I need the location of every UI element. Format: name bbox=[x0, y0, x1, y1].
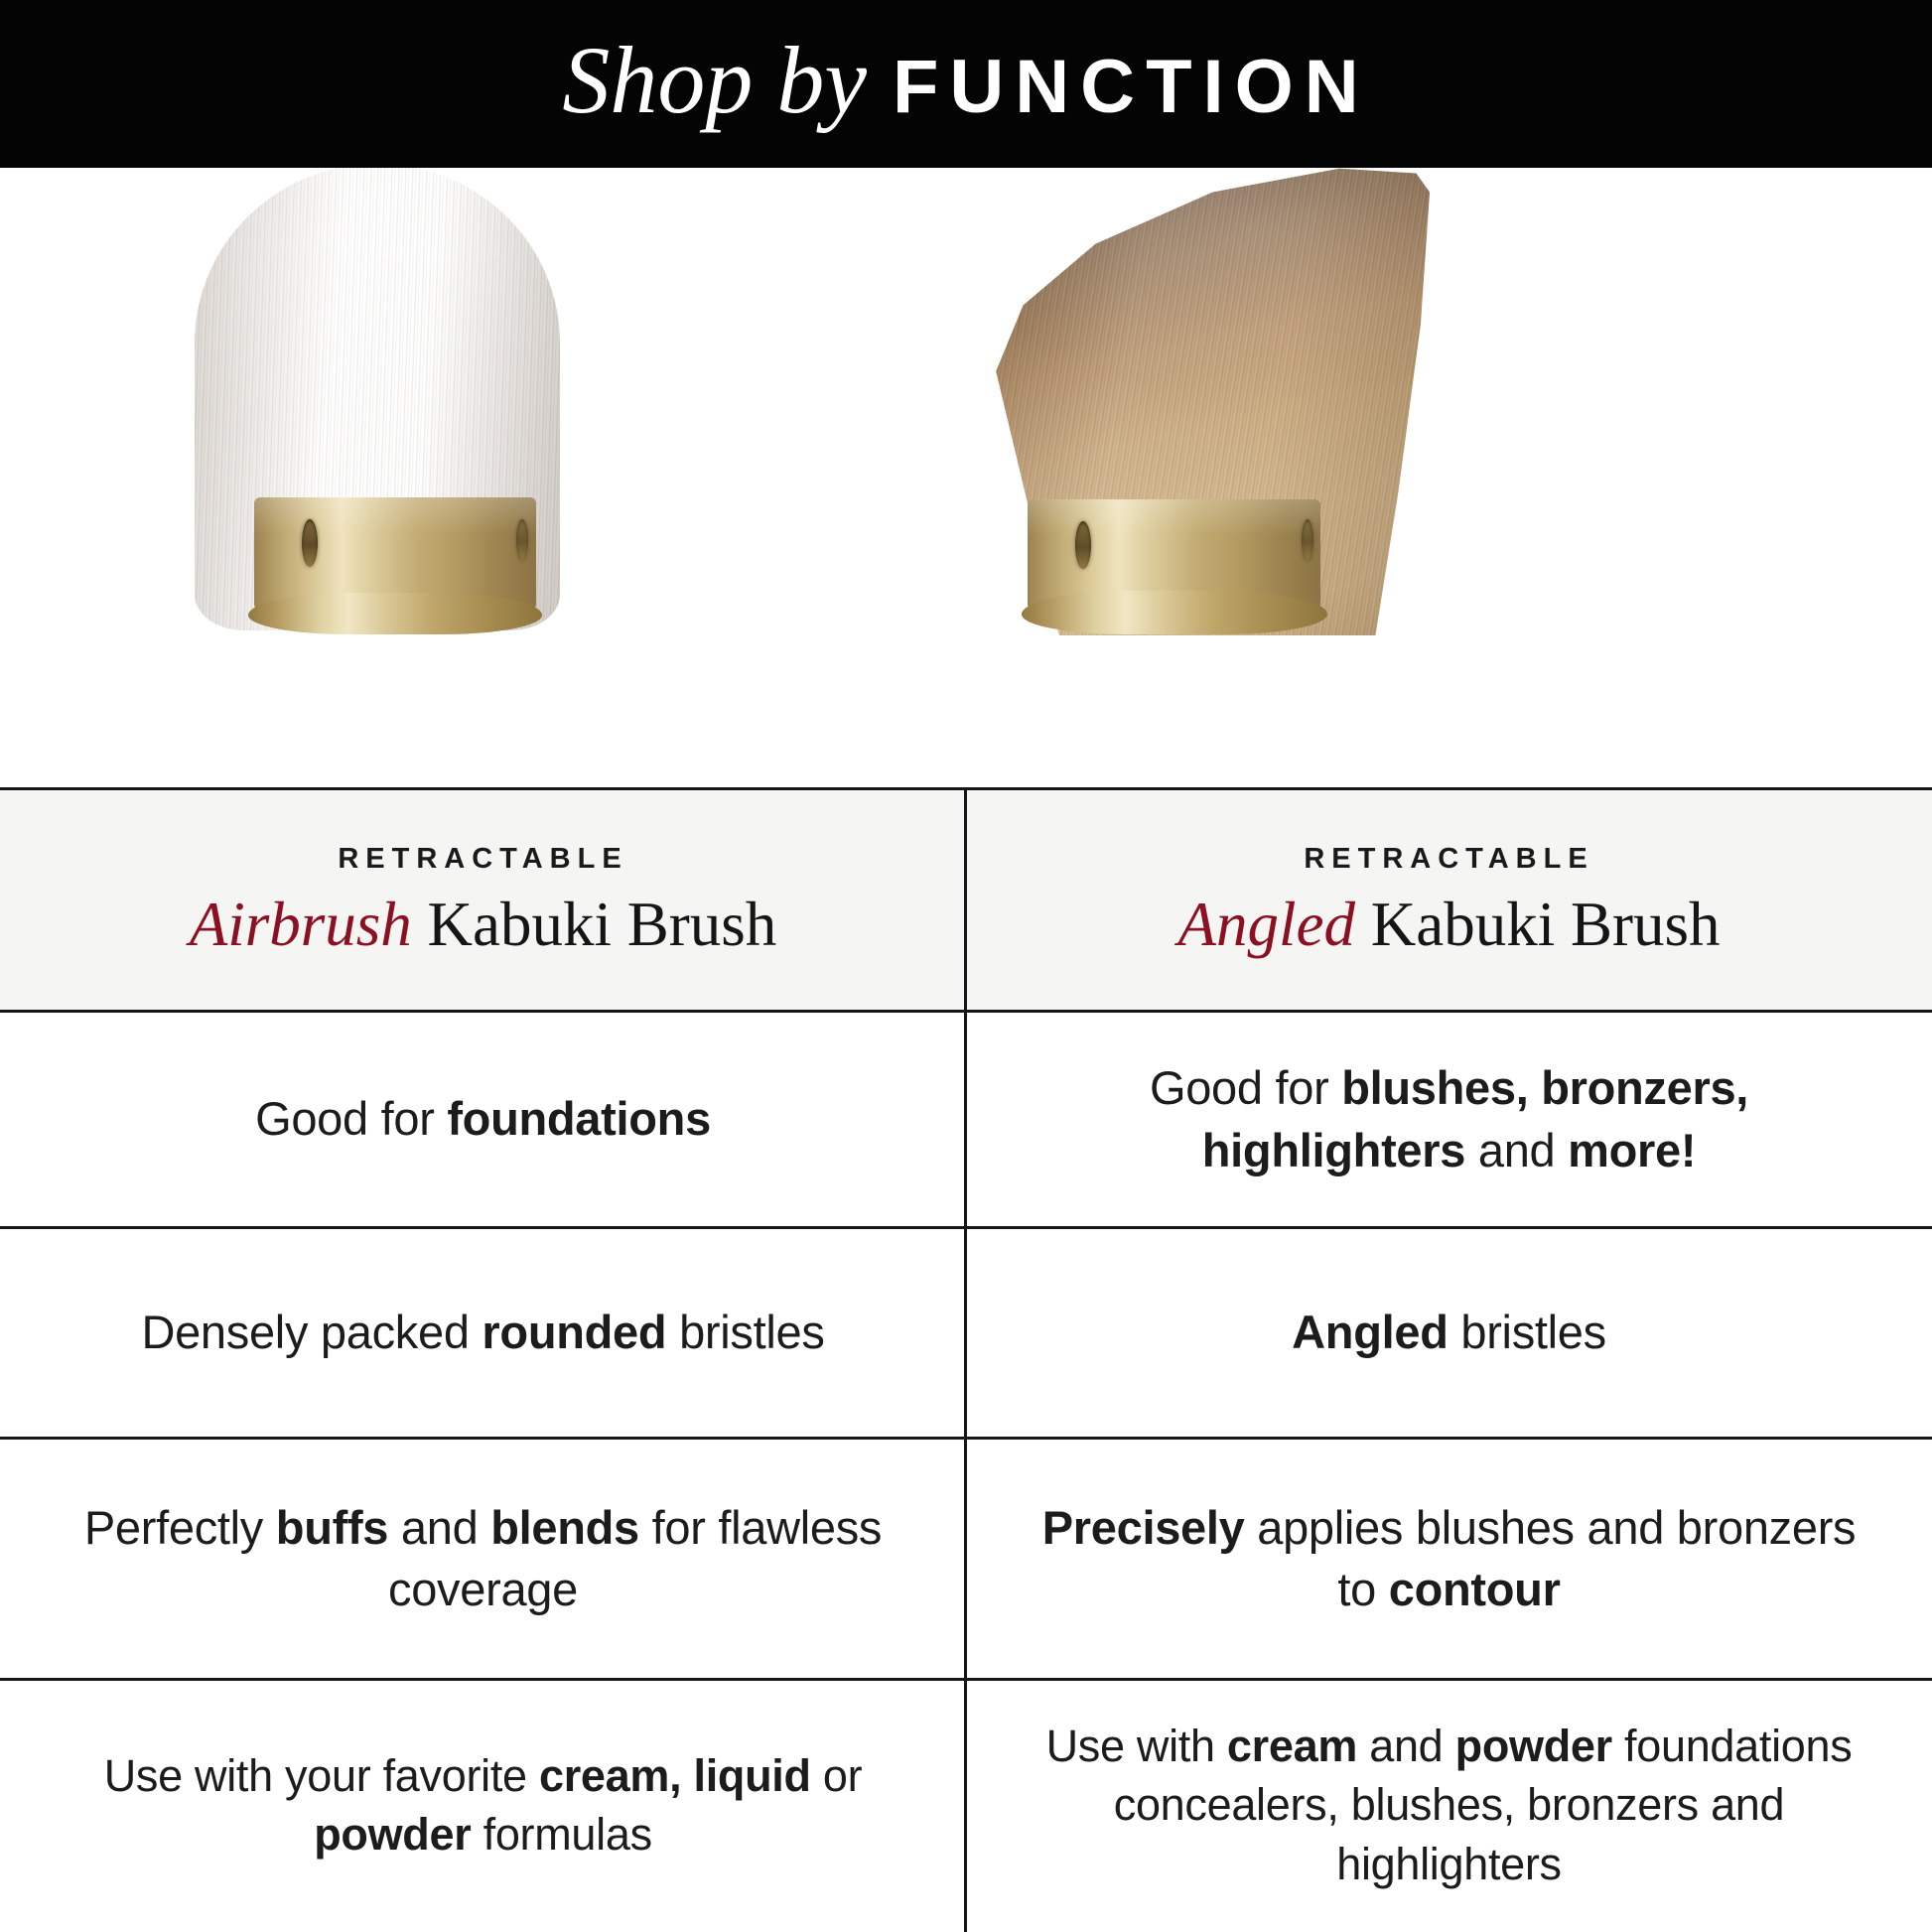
product-name: Airbrush Kabuki Brush bbox=[190, 892, 777, 957]
feature-text: Perfectly buffs and blends for flawless … bbox=[56, 1497, 910, 1620]
feature-cell-right: Precisely applies blushes and bronzers t… bbox=[966, 1440, 1932, 1678]
ferrule-notch-right bbox=[516, 519, 528, 561]
feature-text: Good for blushes, bronzers, highlighters… bbox=[1022, 1057, 1876, 1180]
product-image-strip bbox=[0, 168, 1932, 787]
product-title-cell-left[interactable]: RETRACTABLE Airbrush Kabuki Brush bbox=[0, 790, 966, 1010]
feature-cell-left: Good for foundations bbox=[0, 1013, 966, 1226]
feature-text-plain: Good for bbox=[1150, 1061, 1341, 1114]
product-name-rest: Kabuki Brush bbox=[428, 890, 777, 959]
product-name-accent: Angled bbox=[1178, 890, 1355, 959]
gold-ferrule-base-rounded bbox=[248, 593, 542, 634]
feature-cell-right: Use with cream and powder foundations co… bbox=[966, 1681, 1932, 1929]
product-name-accent: Airbrush bbox=[190, 890, 412, 959]
feature-text: Precisely applies blushes and bronzers t… bbox=[1022, 1497, 1876, 1620]
product-name: Angled Kabuki Brush bbox=[1178, 892, 1721, 957]
feature-text: Densely packed rounded bristles bbox=[141, 1302, 824, 1363]
feature-text-emphasis: rounded bbox=[482, 1306, 666, 1358]
feature-text-plain bbox=[681, 1750, 693, 1801]
feature-text-plain: Use with your favorite bbox=[104, 1750, 539, 1801]
feature-text: Angled bristles bbox=[1292, 1302, 1606, 1363]
feature-text: Good for foundations bbox=[255, 1088, 711, 1150]
column-divider bbox=[964, 790, 967, 1932]
product-title-cell-right[interactable]: RETRACTABLE Angled Kabuki Brush bbox=[966, 790, 1932, 1010]
product-image-rounded-kabuki[interactable] bbox=[0, 168, 966, 787]
ferrule-notch-left bbox=[302, 519, 318, 567]
gold-ferrule-base-angled bbox=[1022, 591, 1327, 634]
feature-text-plain: and bbox=[388, 1501, 490, 1554]
feature-text-plain: and bbox=[1465, 1124, 1568, 1176]
feature-text-plain: and bbox=[1357, 1721, 1455, 1771]
feature-text-emphasis: powder bbox=[314, 1809, 471, 1860]
feature-cell-left: Densely packed rounded bristles bbox=[0, 1229, 966, 1437]
feature-text-emphasis: liquid bbox=[694, 1750, 811, 1801]
page-title-caps: FUNCTION bbox=[893, 50, 1370, 125]
feature-text-emphasis: blends bbox=[490, 1501, 639, 1554]
feature-text-emphasis: foundations bbox=[447, 1092, 711, 1145]
feature-cell-left: Perfectly buffs and blends for flawless … bbox=[0, 1440, 966, 1678]
feature-text-plain: Perfectly bbox=[84, 1501, 276, 1554]
ferrule-notch-left bbox=[1075, 521, 1091, 569]
feature-cell-left: Use with your favorite cream, liquid or … bbox=[0, 1681, 966, 1929]
feature-text-emphasis: cream bbox=[1227, 1721, 1357, 1771]
header-banner: Shop by FUNCTION bbox=[0, 0, 1932, 168]
product-name-rest: Kabuki Brush bbox=[1371, 890, 1721, 959]
feature-text-emphasis: Precisely bbox=[1042, 1501, 1245, 1554]
feature-text: Use with your favorite cream, liquid or … bbox=[56, 1746, 910, 1864]
feature-text-plain: Use with bbox=[1046, 1721, 1227, 1771]
feature-text-emphasis: contour bbox=[1389, 1563, 1561, 1615]
feature-text-emphasis: Angled bbox=[1292, 1306, 1448, 1358]
product-eyebrow: RETRACTABLE bbox=[338, 843, 627, 876]
shop-by-function-comparison-page: Shop by FUNCTION bbox=[0, 0, 1932, 1932]
ferrule-highlight bbox=[1028, 499, 1320, 536]
feature-text-plain: Good for bbox=[255, 1092, 447, 1145]
feature-text-emphasis: powder bbox=[1455, 1721, 1612, 1771]
feature-text-emphasis: cream, bbox=[539, 1750, 681, 1801]
feature-text-plain: formulas bbox=[471, 1809, 651, 1860]
feature-text-plain: or bbox=[811, 1750, 863, 1801]
feature-text: Use with cream and powder foundations co… bbox=[1022, 1717, 1876, 1893]
product-image-angled-kabuki[interactable] bbox=[966, 168, 1932, 787]
comparison-table: RETRACTABLE Airbrush Kabuki Brush RETRAC… bbox=[0, 787, 1932, 1932]
page-title: Shop by FUNCTION bbox=[562, 33, 1369, 128]
ferrule-notch-right bbox=[1302, 519, 1313, 561]
ferrule-highlight bbox=[254, 497, 536, 535]
feature-text-emphasis: more! bbox=[1568, 1124, 1696, 1176]
feature-text-plain: Densely packed bbox=[141, 1306, 482, 1358]
bristle-tips bbox=[195, 168, 560, 257]
feature-cell-right: Angled bristles bbox=[966, 1229, 1932, 1437]
page-title-script: Shop by bbox=[562, 33, 867, 128]
feature-text-emphasis: buffs bbox=[276, 1501, 388, 1554]
feature-text-plain: bristles bbox=[666, 1306, 824, 1358]
feature-cell-right: Good for blushes, bronzers, highlighters… bbox=[966, 1013, 1932, 1226]
feature-text-plain: bristles bbox=[1449, 1306, 1606, 1358]
product-eyebrow: RETRACTABLE bbox=[1304, 843, 1593, 876]
